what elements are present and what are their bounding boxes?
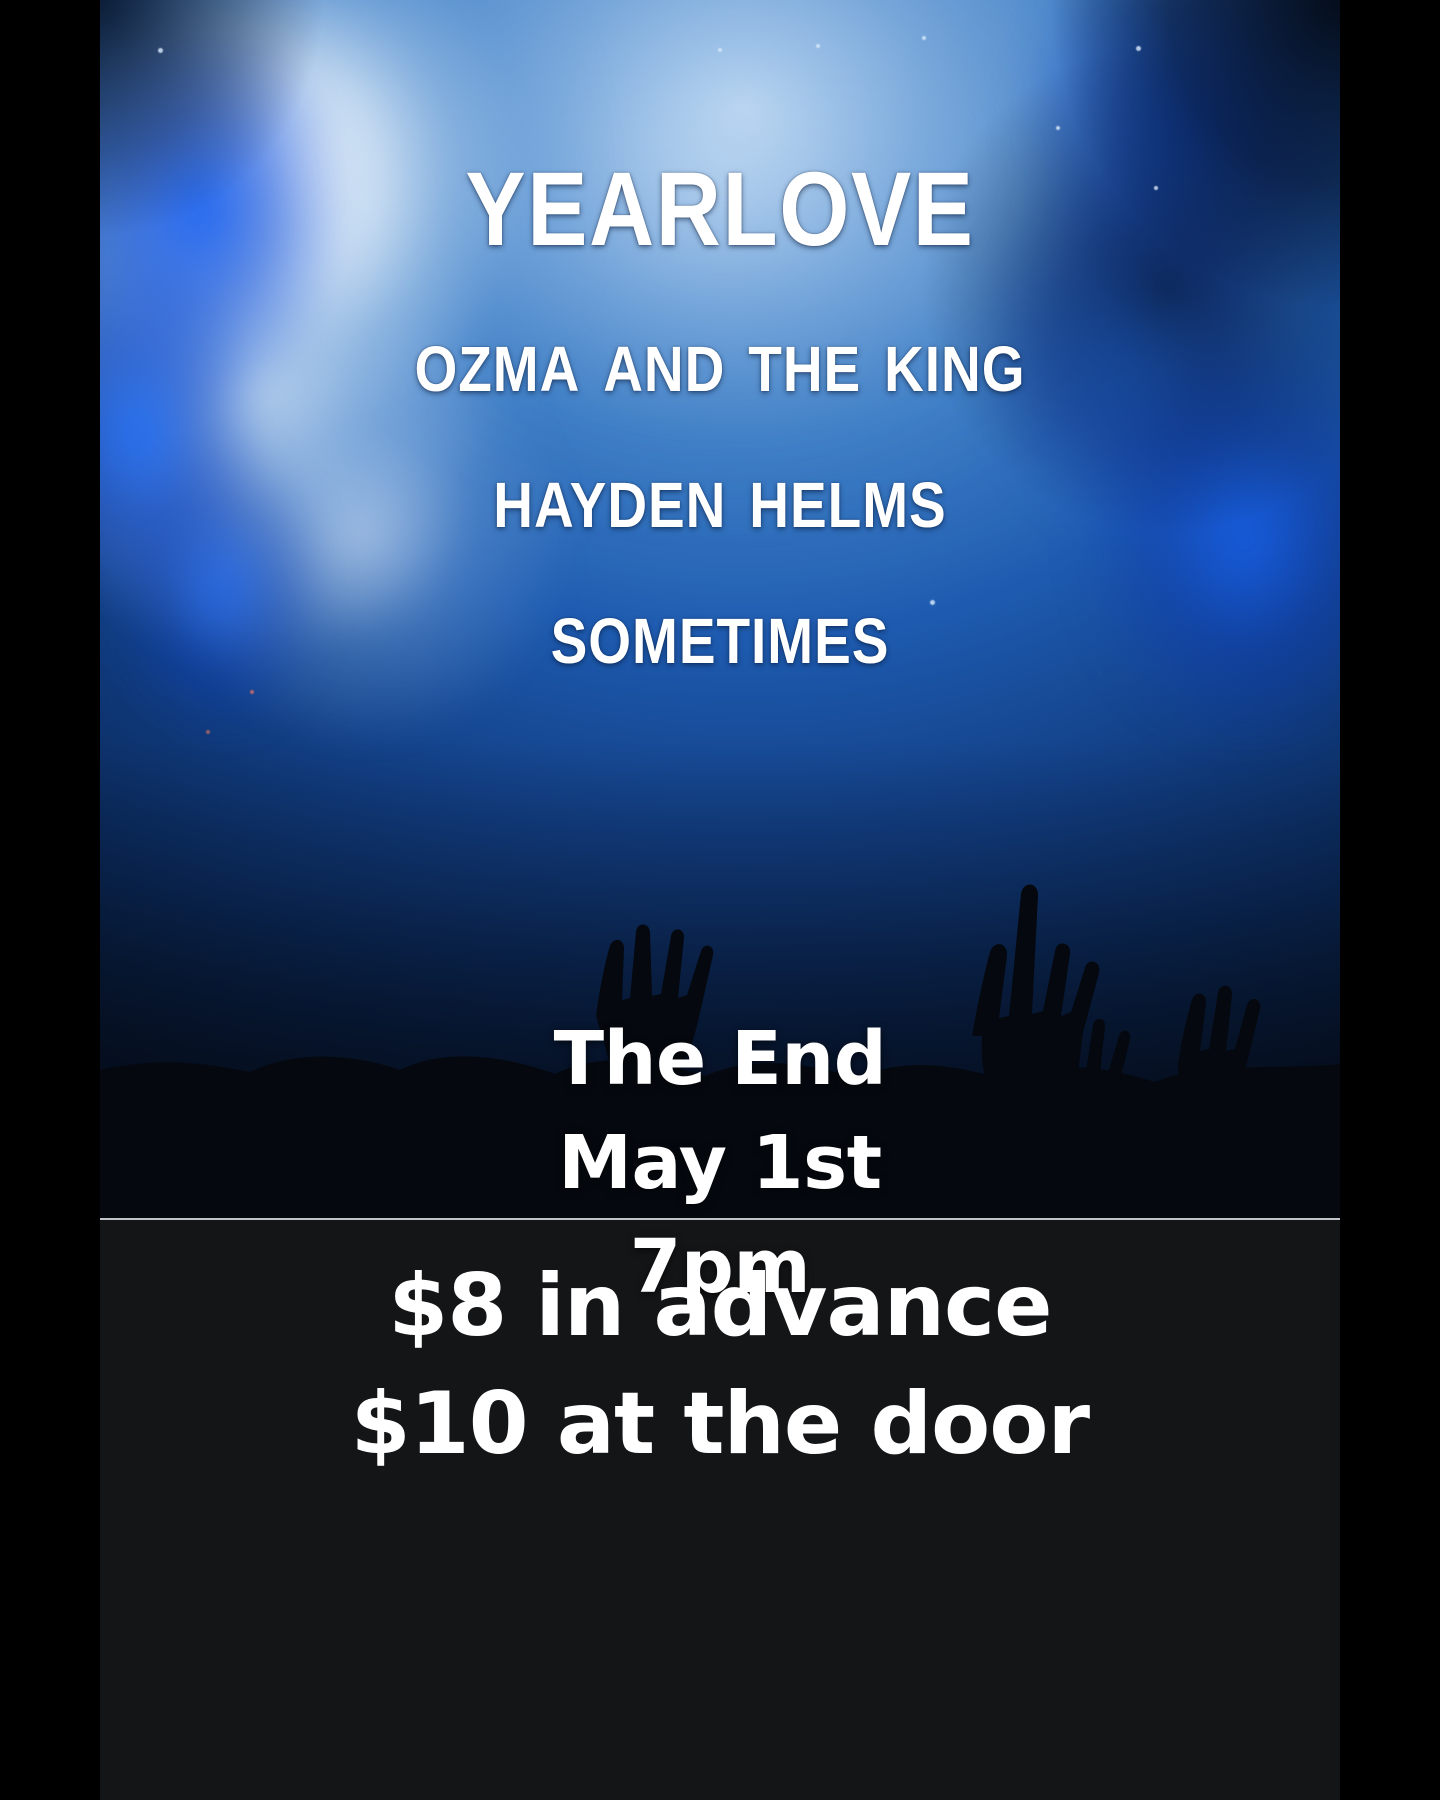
support-act-2: Hayden helms — [187, 450, 1253, 542]
venue-name: The End — [100, 1020, 1340, 1100]
support-act-1: Ozma and the king — [187, 314, 1253, 406]
pricing-block: $8 in advance $10 at the door — [100, 1258, 1340, 1473]
support-act-3: Sometimes — [187, 586, 1253, 678]
concert-poster: Yearlove Ozma and the king Hayden helms … — [100, 0, 1340, 1800]
price-door: $10 at the door — [100, 1376, 1340, 1472]
headliner-name: Yearlove — [187, 118, 1253, 268]
horizontal-divider — [100, 1218, 1340, 1220]
lineup-block: Yearlove Ozma and the king Hayden helms … — [100, 118, 1340, 678]
event-date: May 1st — [100, 1124, 1340, 1204]
price-advance: $8 in advance — [100, 1258, 1340, 1354]
